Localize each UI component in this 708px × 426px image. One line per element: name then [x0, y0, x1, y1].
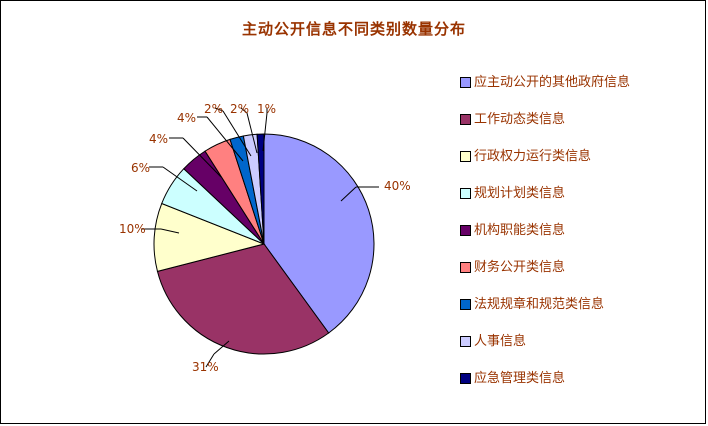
legend-item-label: 规划计划类信息 — [474, 187, 565, 200]
pie-slices-group — [154, 134, 374, 354]
slice-percentage-label: 4% — [149, 132, 168, 146]
slice-percentage-label: 31% — [192, 360, 219, 374]
legend-item-label: 人事信息 — [474, 335, 526, 348]
legend-color-swatch — [460, 151, 471, 162]
legend-color-swatch — [460, 373, 471, 384]
chart-legend: 应主动公开的其他政府信息工作动态类信息行政权力运行类信息规划计划类信息机构职能类… — [460, 75, 700, 408]
legend-item-label: 应急管理类信息 — [474, 372, 565, 385]
legend-item[interactable]: 法规规章和规范类信息 — [460, 297, 700, 312]
legend-item[interactable]: 应主动公开的其他政府信息 — [460, 75, 700, 90]
legend-color-swatch — [460, 262, 471, 273]
legend-color-swatch — [460, 336, 471, 347]
legend-item[interactable]: 工作动态类信息 — [460, 112, 700, 127]
legend-color-swatch — [460, 188, 471, 199]
legend-item-label: 法规规章和规范类信息 — [474, 298, 604, 311]
slice-percentage-label: 6% — [131, 161, 150, 175]
legend-color-swatch — [460, 225, 471, 236]
legend-item[interactable]: 机构职能类信息 — [460, 223, 700, 238]
slice-percentage-label: 1% — [257, 102, 276, 116]
chart-frame: 主动公开信息不同类别数量分布 40%31%10%6%4%4%2%2%1% 应主动… — [0, 0, 706, 424]
legend-item[interactable]: 人事信息 — [460, 334, 700, 349]
slice-percentage-label: 40% — [384, 179, 411, 193]
slice-percentage-label: 2% — [204, 102, 223, 116]
legend-color-swatch — [460, 114, 471, 125]
legend-color-swatch — [460, 299, 471, 310]
legend-item[interactable]: 规划计划类信息 — [460, 186, 700, 201]
legend-item[interactable]: 行政权力运行类信息 — [460, 149, 700, 164]
legend-item-label: 应主动公开的其他政府信息 — [474, 76, 630, 89]
legend-color-swatch — [460, 77, 471, 88]
legend-item[interactable]: 应急管理类信息 — [460, 371, 700, 386]
slice-percentage-label: 2% — [230, 102, 249, 116]
legend-item[interactable]: 财务公开类信息 — [460, 260, 700, 275]
legend-item-label: 财务公开类信息 — [474, 261, 565, 274]
legend-item-label: 行政权力运行类信息 — [474, 150, 591, 163]
legend-item-label: 工作动态类信息 — [474, 113, 565, 126]
slice-percentage-label: 4% — [177, 111, 196, 125]
slice-percentage-label: 10% — [119, 222, 146, 236]
legend-item-label: 机构职能类信息 — [474, 224, 565, 237]
